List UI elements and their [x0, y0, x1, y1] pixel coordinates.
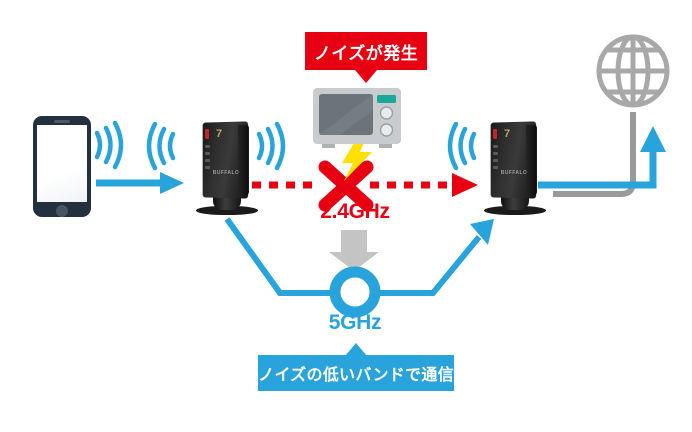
router-side-panel — [526, 125, 537, 195]
router-power-led — [205, 129, 209, 139]
phone-to-router-arrow — [96, 172, 184, 194]
router-status-led-4 — [205, 166, 210, 169]
blocked-24ghz-path — [252, 173, 478, 197]
wifi-waves-icon-router-left — [149, 124, 173, 168]
wifi-waves-icon-phone — [97, 123, 121, 167]
microwave-oven-icon — [313, 88, 401, 148]
router-status-led-3 — [205, 159, 210, 162]
router-brand-label: BUFFALO — [499, 170, 529, 176]
router-status-led-4 — [493, 166, 498, 169]
router-right: 7 BUFFALO — [482, 118, 548, 222]
router-side-panel — [238, 125, 249, 195]
router-to-5ghz-path — [227, 219, 331, 293]
globe-cable — [553, 112, 633, 194]
smartphone — [33, 116, 91, 217]
5ghz-to-router-path — [380, 219, 494, 293]
wifi-waves-icon-router-left-2 — [259, 124, 283, 168]
router-logo-mark: 7 — [216, 128, 232, 140]
router-status-led-3 — [493, 159, 498, 162]
globe-icon — [599, 37, 667, 105]
phone-home-button — [56, 205, 68, 217]
router-left: 7 BUFFALO — [194, 118, 260, 222]
noise-occurs-callout: ノイズが発生 — [305, 32, 427, 70]
router-status-led-1 — [205, 145, 210, 148]
router-brand-label: BUFFALO — [211, 170, 241, 176]
phone-speaker — [54, 120, 70, 123]
noise-callout-tail — [355, 70, 377, 83]
phone-screen — [37, 125, 87, 202]
router-power-led — [493, 129, 497, 139]
router-logo-mark: 7 — [504, 128, 520, 140]
wifi-waves-icon-router-right — [450, 124, 474, 168]
band-label-24ghz: 2.4GHz — [300, 200, 410, 224]
low-noise-band-callout: ノイズの低いバンドで通信 — [258, 355, 454, 391]
router-status-led-2 — [205, 152, 210, 155]
band-label-5ghz: 5GHz — [305, 311, 405, 335]
router-status-led-2 — [493, 152, 498, 155]
router-status-led-1 — [493, 145, 498, 148]
diagram-canvas: 7 BUFFALO 7 BUFFALO ノイズが発生 2.4GHz 5GHz ノ… — [0, 0, 692, 432]
internet-uplink-arrow — [538, 126, 666, 185]
gray-down-arrow-icon — [329, 230, 379, 271]
lightning-bolt-icon — [342, 133, 372, 181]
blue-ring-icon — [335, 272, 375, 312]
